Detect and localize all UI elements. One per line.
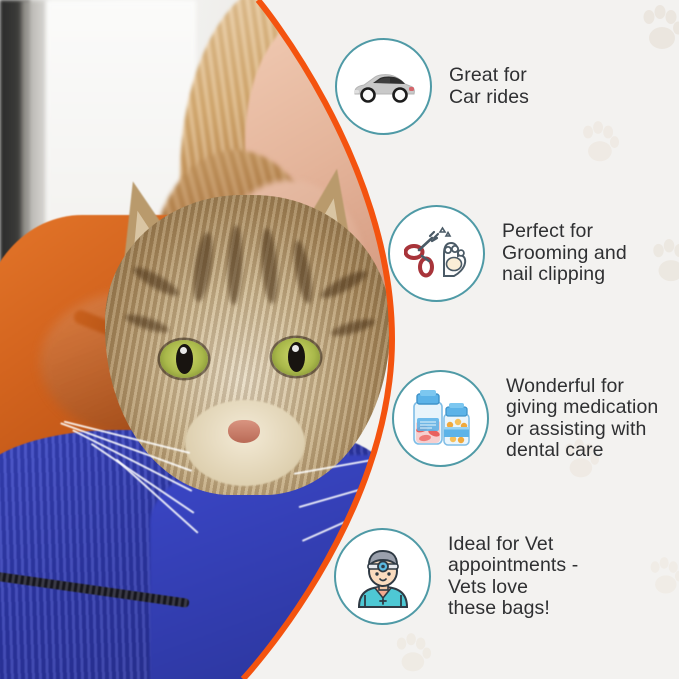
feature-icon-circle	[392, 370, 489, 467]
feature-label: Great for Car rides	[449, 65, 529, 108]
feature-list: Great for Car rides	[0, 0, 679, 679]
feature-item-vet[interactable]: Ideal for Vet appointments - Vets love t…	[334, 528, 578, 625]
car-icon	[351, 70, 417, 104]
feature-item-car-rides[interactable]: Great for Car rides	[335, 38, 529, 135]
feature-icon-circle	[334, 528, 431, 625]
feature-label: Ideal for Vet appointments - Vets love t…	[448, 534, 578, 620]
feature-label: Perfect for Grooming and nail clipping	[502, 221, 627, 286]
product-feature-card: Great for Car rides	[0, 0, 679, 679]
feature-icon-circle	[335, 38, 432, 135]
veterinarian-icon	[351, 545, 415, 609]
medication-bottles-icon	[408, 389, 474, 449]
feature-item-grooming[interactable]: Perfect for Grooming and nail clipping	[388, 205, 627, 302]
feature-icon-circle	[388, 205, 485, 302]
nail-clippers-paw-icon	[404, 226, 470, 282]
feature-label: Wonderful for giving medication or assis…	[506, 376, 658, 462]
feature-item-medication[interactable]: Wonderful for giving medication or assis…	[392, 370, 658, 467]
